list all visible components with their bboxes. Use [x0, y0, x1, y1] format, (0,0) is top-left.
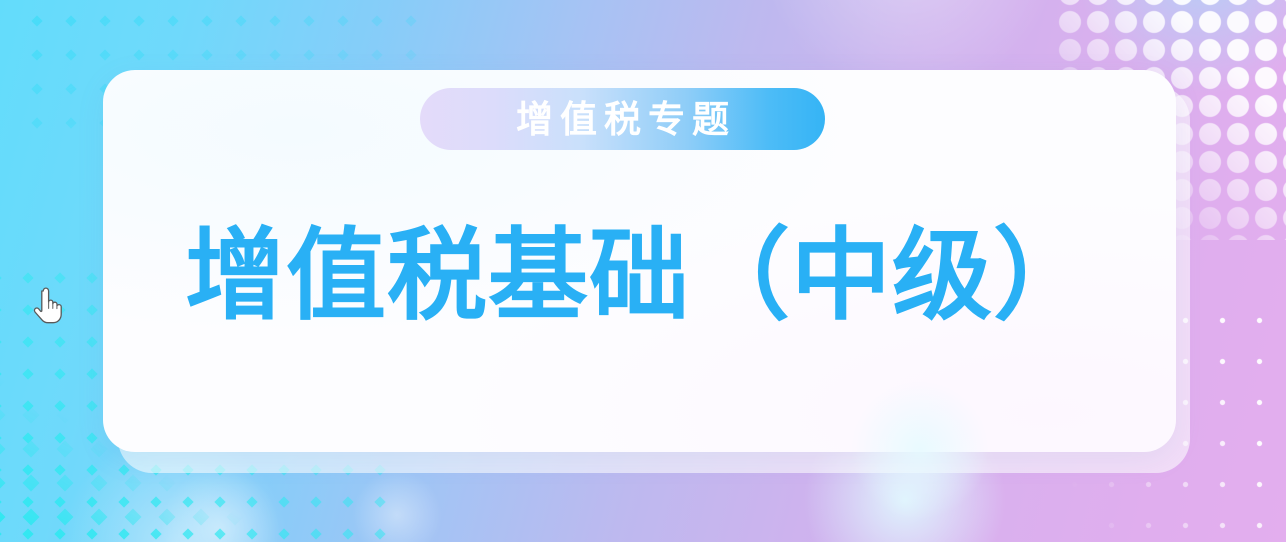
- topic-badge-label: 增值税专题: [509, 101, 736, 138]
- banner-stage: 增值税专题 增值税基础（中级）: [0, 0, 1286, 542]
- page-title: 增值税基础（中级）: [103, 222, 1176, 330]
- topic-badge[interactable]: 增值税专题: [420, 88, 825, 150]
